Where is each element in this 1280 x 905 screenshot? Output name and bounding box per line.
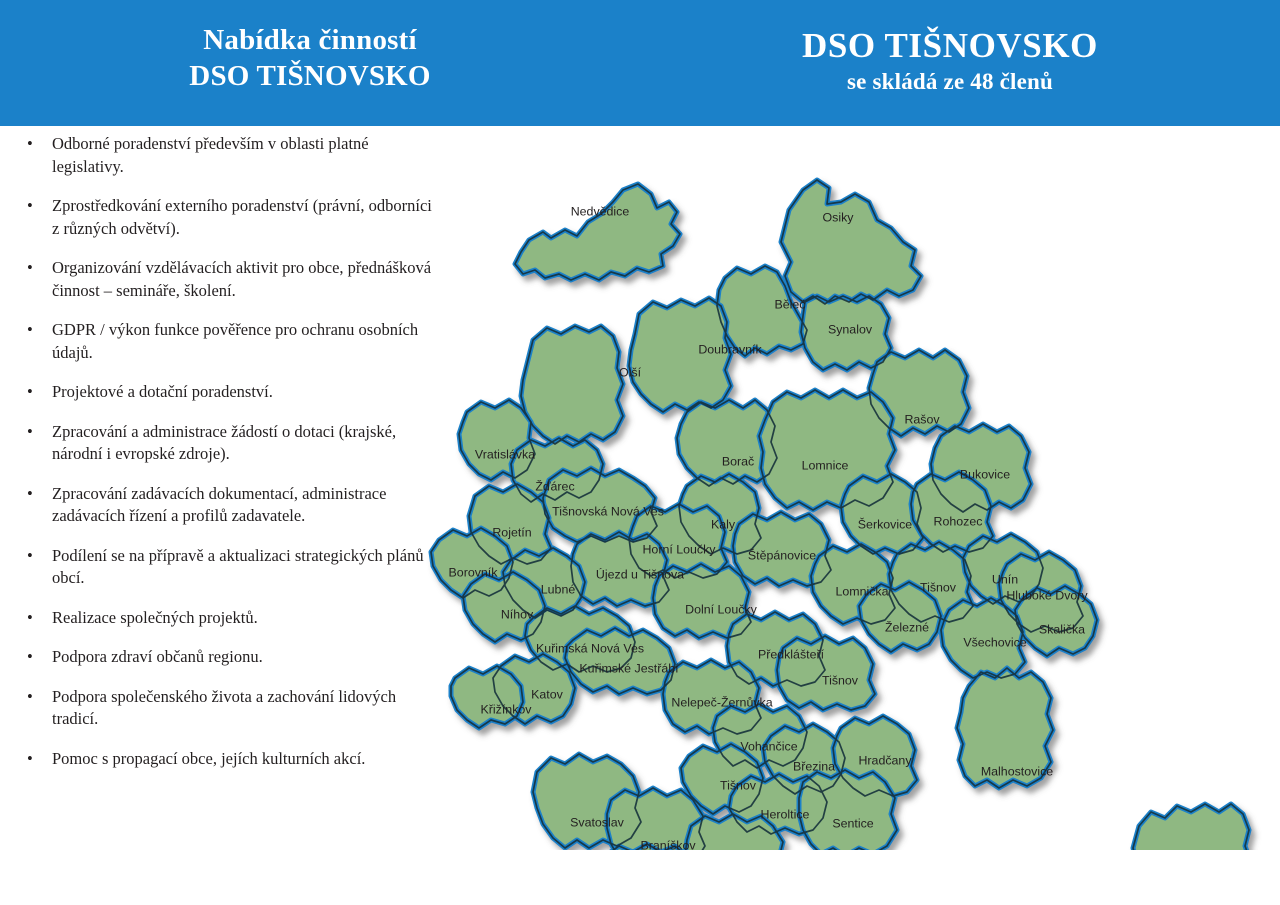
activities-panel: •Odborné poradenství především v oblasti… [0,133,440,903]
bullet-glyph-icon: • [27,483,33,506]
bullet-glyph-icon: • [27,257,33,280]
bullet-glyph-icon: • [27,748,33,771]
header-bar: Nabídka činností DSO TIŠNOVSKO DSO TIŠNO… [0,0,1280,126]
activity-text: Zpracování a administrace žádostí o dota… [52,422,396,464]
map-main-cluster [425,150,1280,850]
activity-text: Projektové a dotační poradenství. [52,382,273,401]
activity-text: Pomoc s propagací obce, jejích kulturníc… [52,749,365,768]
bullet-glyph-icon: • [27,195,33,218]
map-svg: NedvědiceOsikyBělečSynalovDoubravníkOlší… [425,150,1280,850]
activity-text: Podpora společenského života a zachování… [52,687,396,729]
poster-page: Nabídka činností DSO TIŠNOVSKO DSO TIŠNO… [0,0,1280,905]
activity-item: •GDPR / výkon funkce pověřence pro ochra… [0,319,440,364]
activity-text: Organizování vzdělávacích aktivit pro ob… [52,258,431,300]
header-left-title: Nabídka činností DSO TIŠNOVSKO [0,22,620,94]
header-left-line2: DSO TIŠNOVSKO [0,58,620,94]
bullet-glyph-icon: • [27,646,33,669]
activity-item: •Organizování vzdělávacích aktivit pro o… [0,257,440,302]
header-left-line1: Nabídka činností [0,22,620,58]
bullet-glyph-icon: • [27,381,33,404]
activity-item: •Zpracování zadávacích dokumentací, admi… [0,483,440,528]
municipalities-map: NedvědiceOsikyBělečSynalovDoubravníkOlší… [425,150,1280,850]
activity-text: Zprostředkování externího poradenství (p… [52,196,432,238]
bullet-glyph-icon: • [27,421,33,444]
activities-list: •Odborné poradenství především v oblasti… [0,133,440,770]
bullet-glyph-icon: • [27,319,33,342]
bullet-glyph-icon: • [27,545,33,568]
bullet-glyph-icon: • [27,686,33,709]
header-right-title: DSO TIŠNOVSKO se skládá ze 48 členů [620,24,1280,97]
activity-text: Realizace společných projektů. [52,608,258,627]
activity-item: •Podílení se na přípravě a aktualizaci s… [0,545,440,590]
map-vranov-exclave [1025,750,1280,850]
header-right-main: DSO TIŠNOVSKO [620,24,1280,67]
activity-item: •Podpora zdraví občanů regionu. [0,646,440,669]
activity-text: Podpora zdraví občanů regionu. [52,647,263,666]
bullet-glyph-icon: • [27,607,33,630]
activity-item: •Pomoc s propagací obce, jejích kulturní… [0,748,440,771]
activity-text: GDPR / výkon funkce pověřence pro ochran… [52,320,418,362]
activity-item: •Projektové a dotační poradenství. [0,381,440,404]
activity-item: •Podpora společenského života a zachován… [0,686,440,731]
activity-text: Podílení se na přípravě a aktualizaci st… [52,546,424,588]
activity-text: Odborné poradenství především v oblasti … [52,134,369,176]
activity-item: •Zprostředkování externího poradenství (… [0,195,440,240]
activity-text: Zpracování zadávacích dokumentací, admin… [52,484,386,526]
activity-item: •Realizace společných projektů. [0,607,440,630]
header-right-subtitle: se skládá ze 48 členů [620,67,1280,97]
activity-item: •Odborné poradenství především v oblasti… [0,133,440,178]
activity-item: •Zpracování a administrace žádostí o dot… [0,421,440,466]
bullet-glyph-icon: • [27,133,33,156]
